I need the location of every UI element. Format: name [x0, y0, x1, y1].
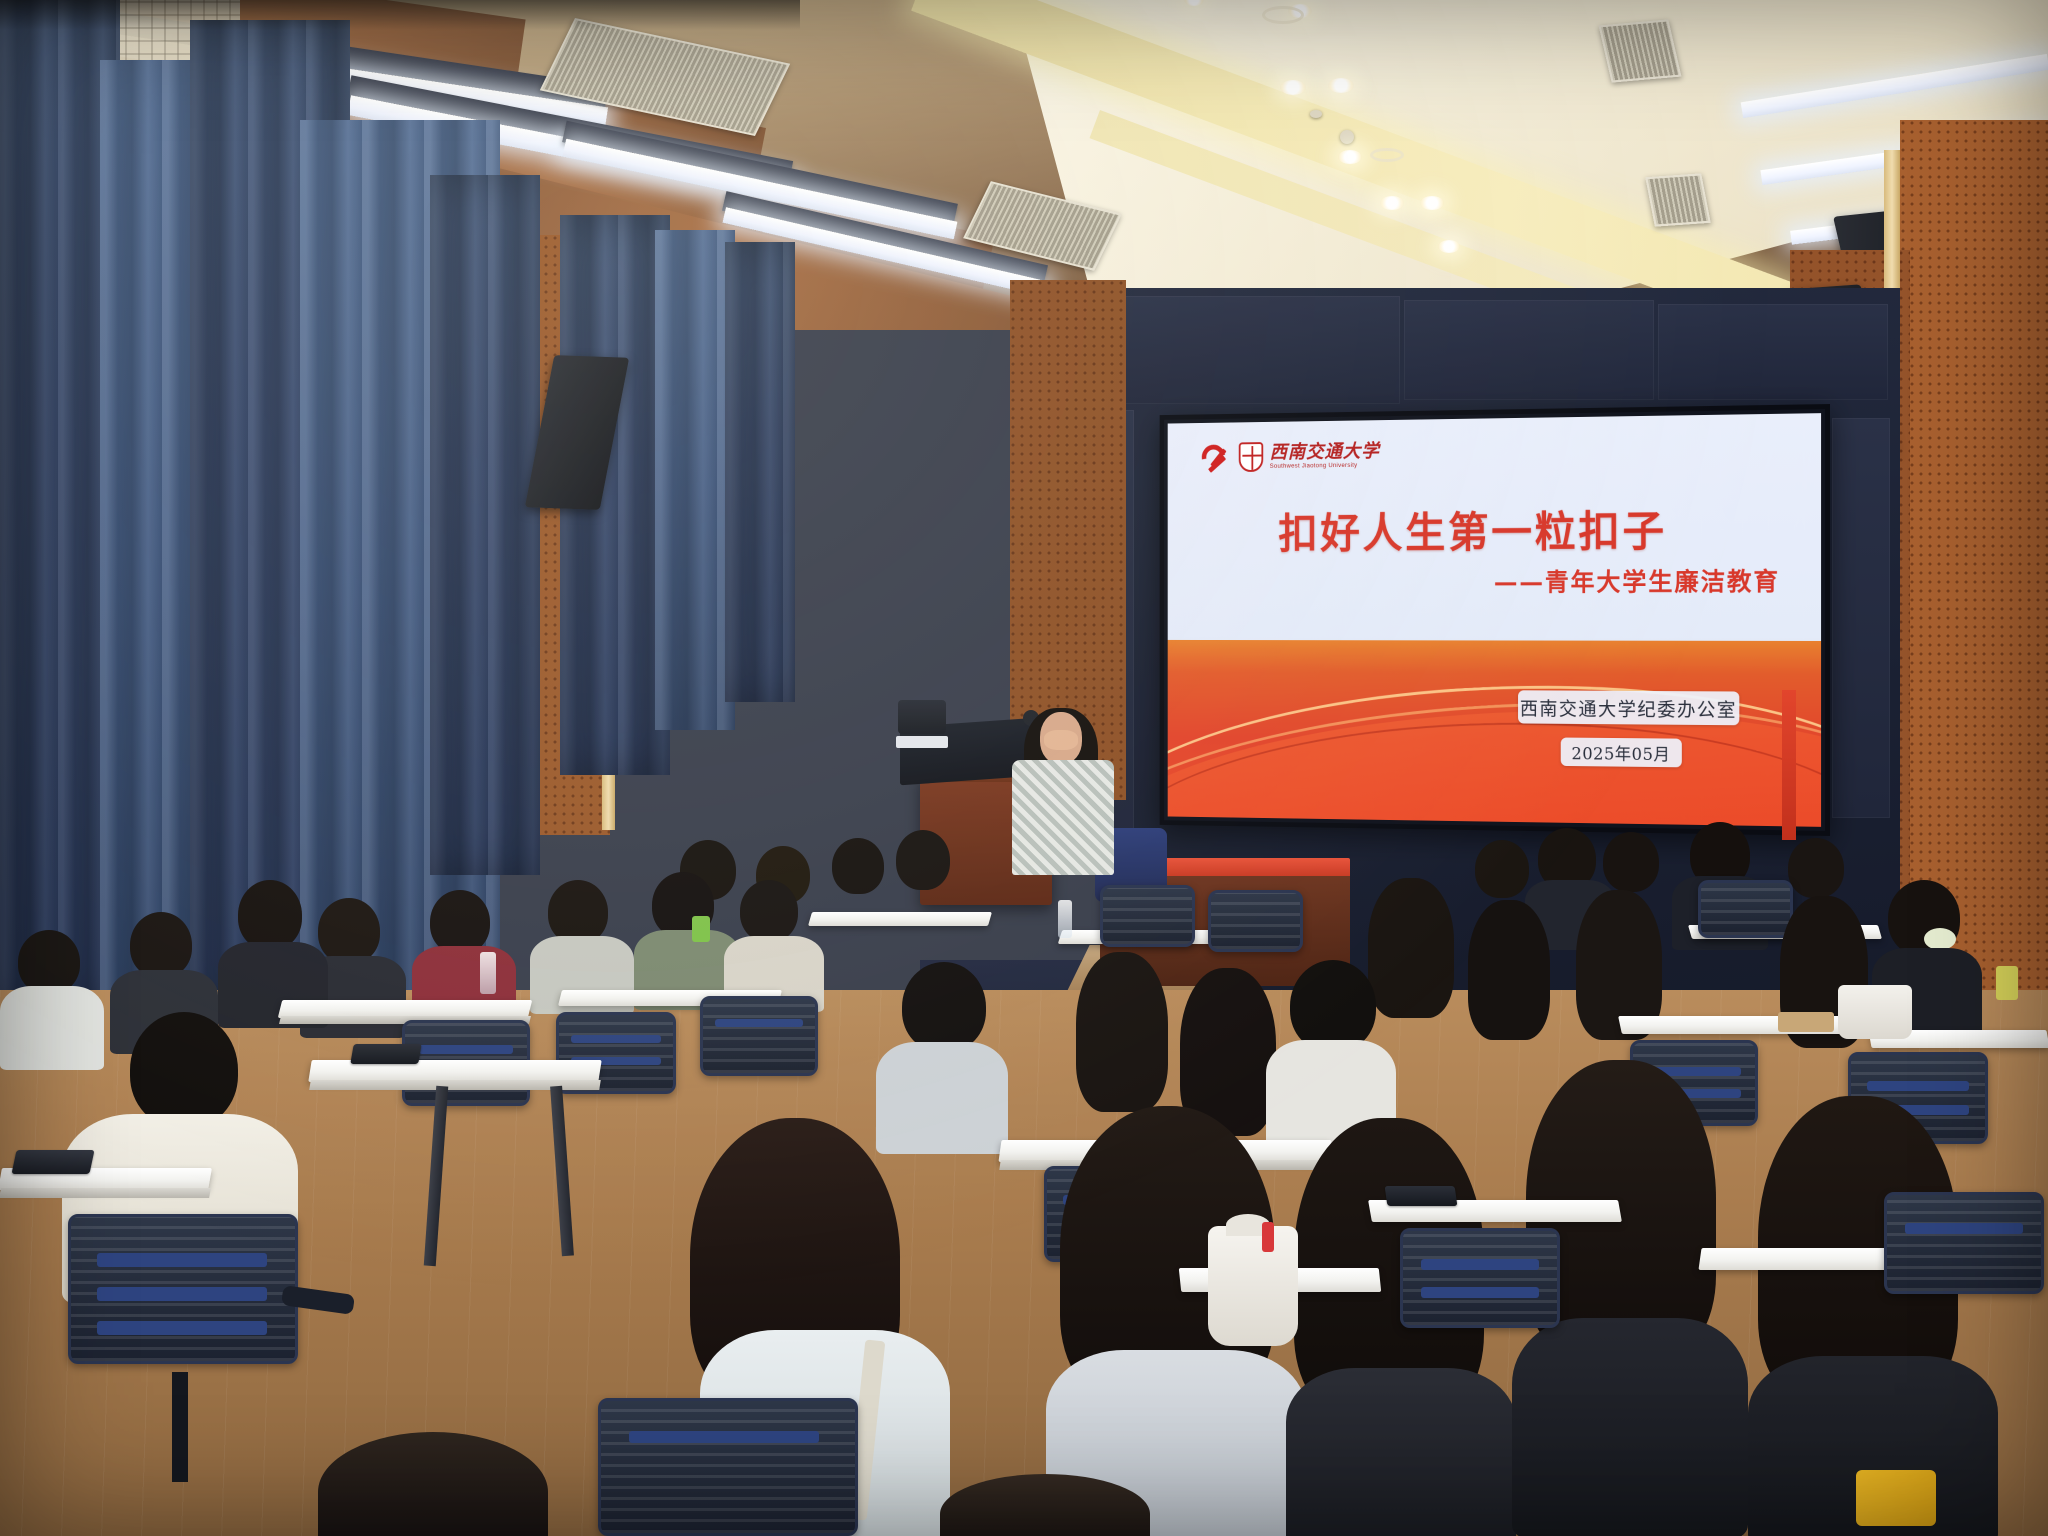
ceiling-fixture-ring	[1370, 148, 1404, 162]
audience-head	[1603, 832, 1659, 892]
water-bottle	[480, 952, 496, 994]
tote-bag	[1838, 985, 1912, 1039]
presenter-face	[1044, 730, 1078, 750]
chair[interactable]	[700, 996, 818, 1076]
chair[interactable]	[1698, 880, 1793, 938]
audience-head	[896, 830, 950, 890]
downlight-icon	[1328, 78, 1354, 93]
downlight-icon	[1280, 80, 1306, 95]
desk-item	[692, 916, 710, 942]
screen-side-strip	[1782, 690, 1796, 840]
cpc-hammer-sickle-icon	[1202, 442, 1233, 473]
sprinkler-head-icon	[1310, 110, 1322, 118]
audience-head	[832, 838, 884, 894]
air-vent-grille	[1599, 19, 1682, 82]
chair[interactable]	[1884, 1192, 2044, 1294]
right-wall-acoustic-panel	[1900, 120, 2048, 1000]
downlight-icon	[1420, 196, 1444, 210]
curtain-rail-shadow	[0, 0, 800, 30]
projection-screen[interactable]: 西南交通大学 Southwest Jiaotong University 扣好人…	[1160, 404, 1830, 836]
slide-lower-band	[1168, 640, 1821, 827]
foreground-chair[interactable]	[68, 1214, 298, 1364]
swjtu-shield-icon	[1239, 442, 1263, 472]
chair[interactable]	[1100, 885, 1195, 947]
audience-head	[548, 880, 608, 944]
podium-paper	[896, 736, 948, 748]
slide-university-name-cn: 西南交通大学	[1270, 442, 1380, 462]
foreground-student-torso	[1286, 1368, 1516, 1536]
foreground-student-head	[130, 1012, 238, 1128]
presenter-body	[1012, 760, 1114, 875]
hair-scrunchie	[1924, 928, 1956, 950]
audience-head	[1290, 960, 1376, 1052]
curtain-panel	[655, 230, 735, 730]
foreground-student-torso	[1512, 1318, 1748, 1536]
desk-edge	[0, 1188, 211, 1198]
smartphone[interactable]	[11, 1150, 94, 1174]
audience-head	[1475, 840, 1529, 898]
wall-panel	[1110, 296, 1400, 404]
audience-head	[18, 930, 80, 994]
slide-organization-label: 西南交通大学纪委办公室	[1518, 691, 1739, 726]
wall-panel	[1832, 418, 1890, 818]
audience-head	[1076, 952, 1168, 1112]
audience-head	[430, 890, 490, 954]
sprinkler-head-icon	[1340, 130, 1354, 144]
wall-panel	[1658, 304, 1888, 400]
audience-head	[1468, 900, 1550, 1040]
audience-torso	[876, 1042, 1008, 1154]
chair[interactable]	[1400, 1228, 1560, 1328]
smartphone[interactable]	[1385, 1186, 1458, 1206]
slide-subtitle: ——青年大学生廉洁教育	[1494, 562, 1780, 598]
notebook	[1778, 1012, 1834, 1032]
audience-head	[318, 898, 380, 964]
audience-head	[902, 962, 986, 1052]
ceiling-fixture-ring	[1262, 6, 1304, 24]
desk-item	[1996, 966, 2018, 1000]
podium-device	[898, 700, 946, 734]
chair[interactable]	[1208, 890, 1303, 952]
plastic-bag	[1208, 1226, 1298, 1346]
audience-head	[1788, 838, 1844, 898]
slide-university-name-en: Southwest Jiaotong University	[1270, 463, 1380, 471]
slide-date-label: 2025年05月	[1560, 738, 1681, 768]
audience-head	[740, 880, 798, 942]
downlight-icon	[1380, 196, 1404, 210]
lecture-hall-photo: 西南交通大学 Southwest Jiaotong University 扣好人…	[0, 0, 2048, 1536]
wall-panel	[1404, 300, 1654, 400]
audience-torso	[0, 986, 104, 1070]
audience-head	[130, 912, 192, 978]
audience-head	[238, 880, 302, 950]
air-vent-grille	[1645, 173, 1710, 226]
curtain-panel	[725, 242, 795, 702]
smartphone[interactable]	[350, 1044, 422, 1064]
foreground-chair[interactable]	[598, 1398, 858, 1536]
downlight-icon	[1438, 240, 1460, 253]
audience-head	[1368, 878, 1454, 1018]
shirt-graphic	[1856, 1470, 1936, 1526]
curtain-panel	[430, 175, 540, 875]
chair-column	[172, 1372, 188, 1482]
bag-item	[1262, 1222, 1274, 1252]
desk	[808, 912, 992, 926]
presentation-slide: 西南交通大学 Southwest Jiaotong University 扣好人…	[1168, 413, 1821, 827]
downlight-icon	[1338, 150, 1362, 164]
slide-logo: 西南交通大学 Southwest Jiaotong University	[1202, 440, 1380, 473]
slide-title: 扣好人生第一粒扣子	[1168, 496, 1787, 561]
water-bottle	[1058, 900, 1072, 938]
